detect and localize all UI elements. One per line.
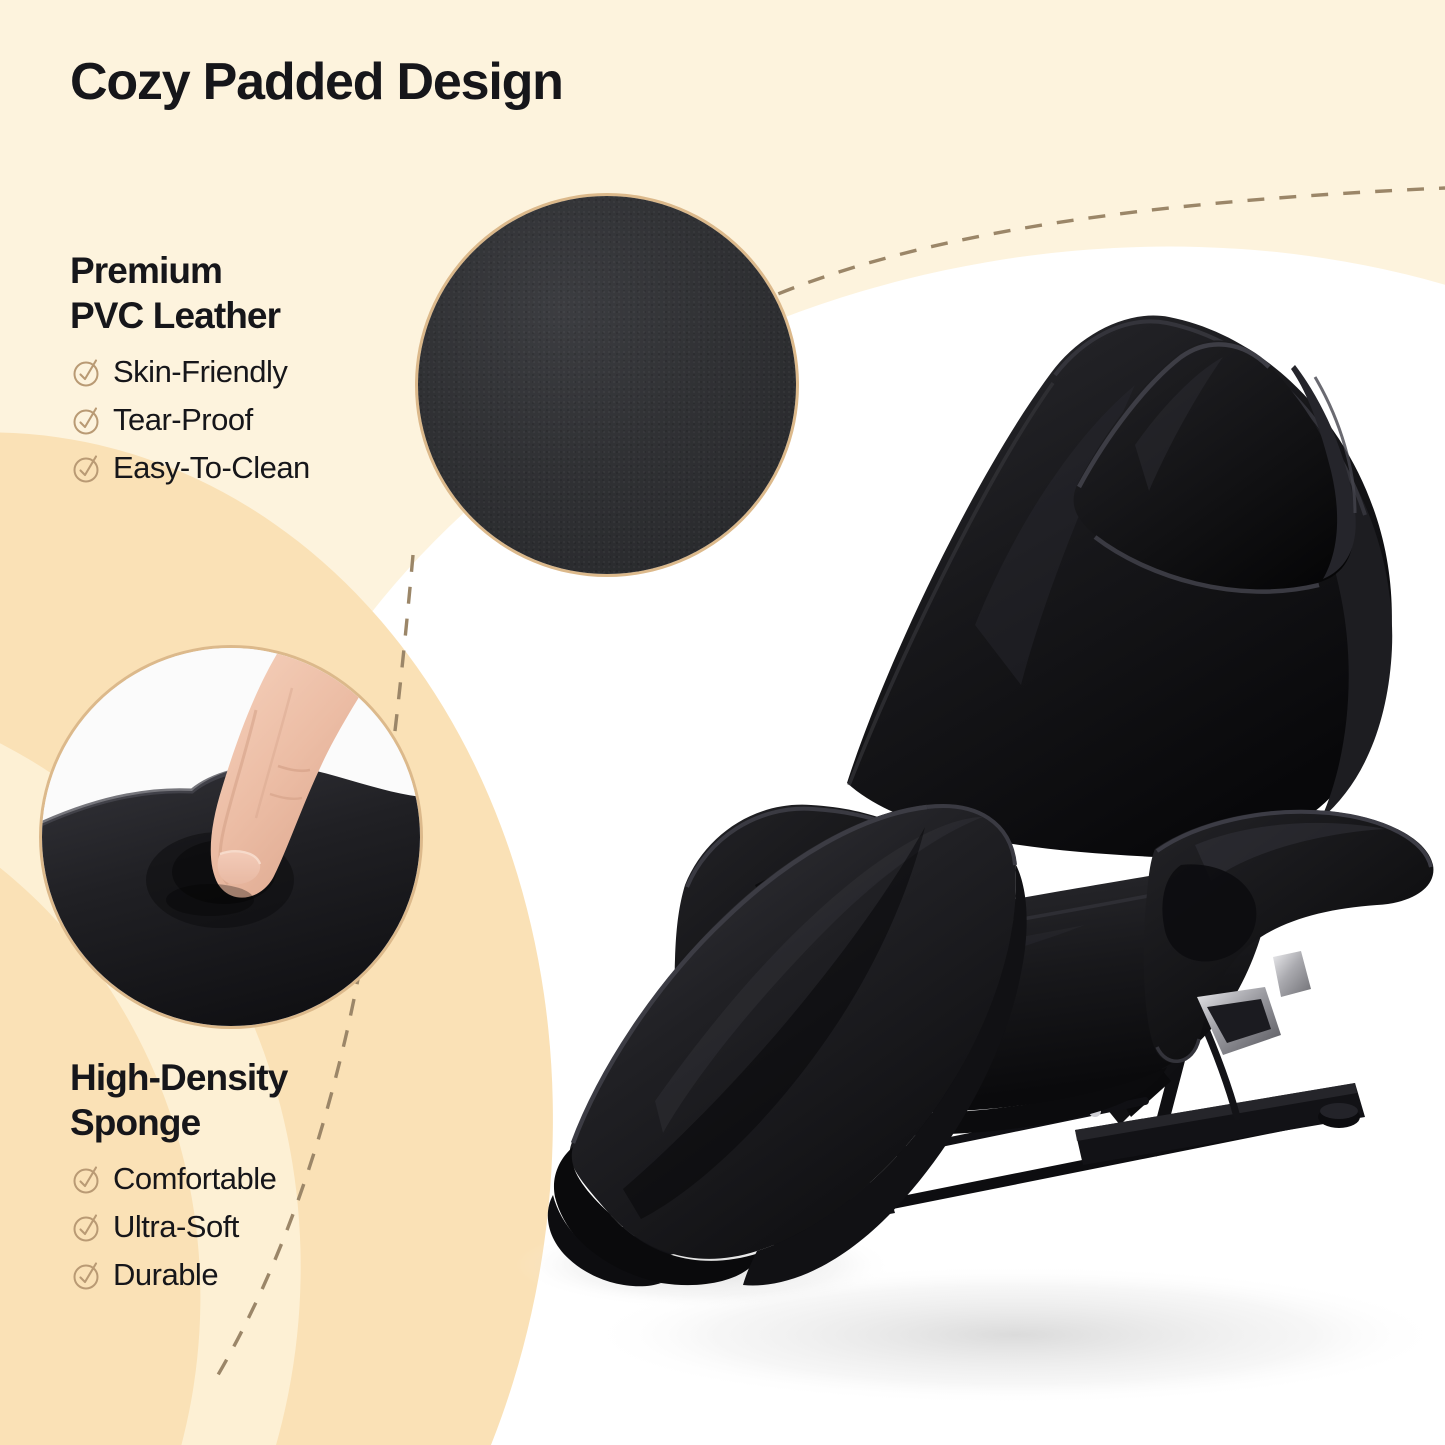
list-item: Easy-To-Clean (70, 450, 310, 486)
check-circle-icon (70, 355, 104, 389)
check-circle-icon (70, 1162, 104, 1196)
feature-bullet-list: Comfortable Ultra-Soft Durable (70, 1161, 287, 1293)
check-circle-icon (70, 1258, 104, 1292)
page-title: Cozy Padded Design (70, 52, 563, 112)
list-item-label: Skin-Friendly (113, 354, 287, 390)
feature-block-high-density-sponge: High-Density Sponge Comfortable Ultra-So… (70, 1055, 287, 1305)
feature-heading: Premium PVC Leather (70, 248, 310, 338)
list-item-label: Durable (113, 1257, 218, 1293)
feature-bullet-list: Skin-Friendly Tear-Proof Easy-To-Clean (70, 354, 310, 486)
feature-heading: High-Density Sponge (70, 1055, 287, 1145)
list-item: Tear-Proof (70, 402, 310, 438)
list-item-label: Easy-To-Clean (113, 450, 310, 486)
feature-block-premium-pvc-leather: Premium PVC Leather Skin-Friendly Tear-P… (70, 248, 310, 498)
list-item-label: Tear-Proof (113, 402, 253, 438)
list-item: Comfortable (70, 1161, 287, 1197)
list-item-label: Ultra-Soft (113, 1209, 239, 1245)
check-circle-icon (70, 451, 104, 485)
black-pvc-leather-massage-spa-chair (455, 245, 1445, 1425)
leg-rest (548, 804, 1027, 1286)
check-circle-icon (70, 1210, 104, 1244)
list-item: Skin-Friendly (70, 354, 310, 390)
list-item: Durable (70, 1257, 287, 1293)
check-circle-icon (70, 403, 104, 437)
product-feature-graphic: Cozy Padded Design Premium PVC Leather S… (0, 0, 1445, 1445)
list-item-label: Comfortable (113, 1161, 276, 1197)
hand-press-icon (42, 648, 420, 1026)
list-item: Ultra-Soft (70, 1209, 287, 1245)
